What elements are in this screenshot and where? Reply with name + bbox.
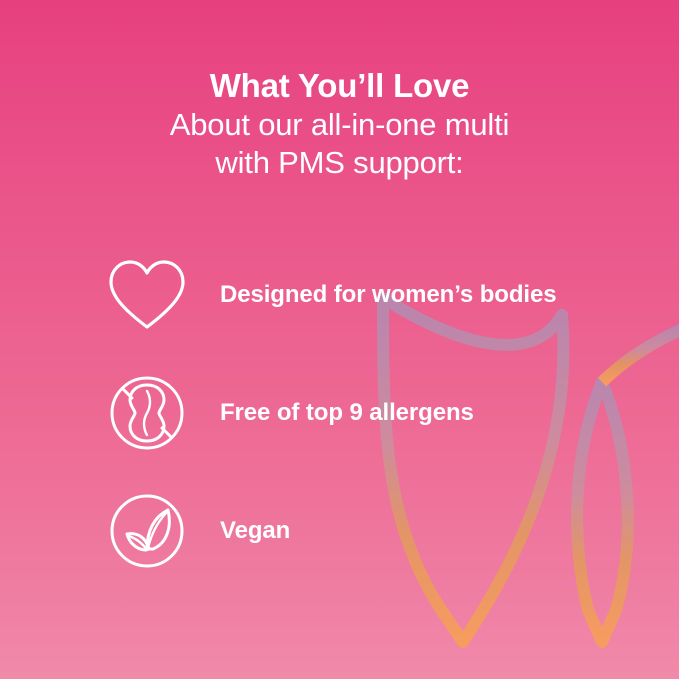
heart-icon (105, 253, 189, 337)
headline-block: What You’ll Love About our all-in-one mu… (0, 0, 679, 182)
feature-row-free-of-top-9-allergens: Free of top 9 allergens (0, 354, 679, 472)
feature-row-vegan: Vegan (0, 472, 679, 590)
headline-line-3: with PMS support: (0, 144, 679, 182)
leaves-vegan-icon (105, 489, 189, 573)
feature-label: Free of top 9 allergens (220, 399, 474, 427)
no-peanut-allergen-icon (105, 371, 189, 455)
headline-line-1: What You’ll Love (0, 66, 679, 106)
promo-poster: What You’ll Love About our all-in-one mu… (0, 0, 679, 679)
feature-label: Vegan (220, 517, 290, 545)
feature-list: Designed for women’s bodies Free of top … (0, 236, 679, 590)
headline-line-2: About our all-in-one multi (0, 106, 679, 144)
feature-row-designed-for-womens-bodies: Designed for women’s bodies (0, 236, 679, 354)
feature-label: Designed for women’s bodies (220, 281, 556, 309)
